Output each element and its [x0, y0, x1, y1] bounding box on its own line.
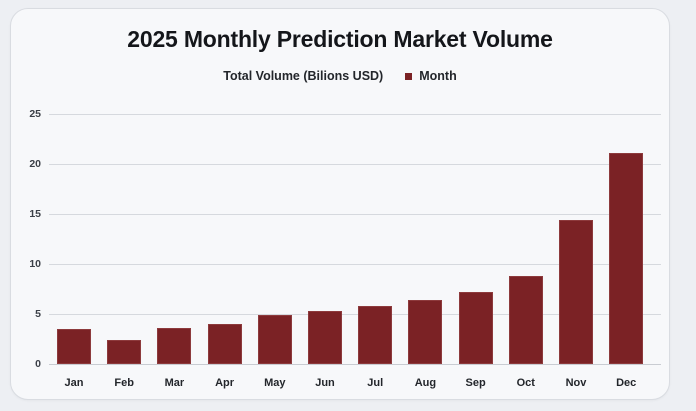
bar-aug[interactable]: [408, 300, 442, 364]
x-tick-label-dec: Dec: [596, 377, 656, 389]
bar-jul[interactable]: [358, 306, 392, 364]
y-tick-label-15: 15: [11, 208, 41, 220]
bar-sep[interactable]: [459, 292, 493, 364]
y-tick-label-20: 20: [11, 158, 41, 170]
bar-apr[interactable]: [208, 324, 242, 364]
bar-jun[interactable]: [308, 311, 342, 364]
chart-card: 2025 Monthly Prediction Market Volume To…: [10, 8, 670, 400]
y-tick-label-10: 10: [11, 258, 41, 270]
bar-dec[interactable]: [609, 153, 643, 364]
y-tick-label-5: 5: [11, 308, 41, 320]
bar-may[interactable]: [258, 315, 292, 364]
bar-oct[interactable]: [509, 276, 543, 364]
bar-feb[interactable]: [107, 340, 141, 364]
bar-mar[interactable]: [157, 328, 191, 364]
bars-layer: JanFebMarAprMayJunJulAugSepOctNovDec: [57, 9, 661, 400]
y-tick-label-0: 0: [11, 358, 41, 370]
bar-jan[interactable]: [57, 329, 91, 364]
plot-area: 25 20 15 10 5 0 JanFebMarAprMayJunJulAug…: [11, 9, 670, 400]
bar-nov[interactable]: [559, 220, 593, 364]
y-tick-label-25: 25: [11, 108, 41, 120]
